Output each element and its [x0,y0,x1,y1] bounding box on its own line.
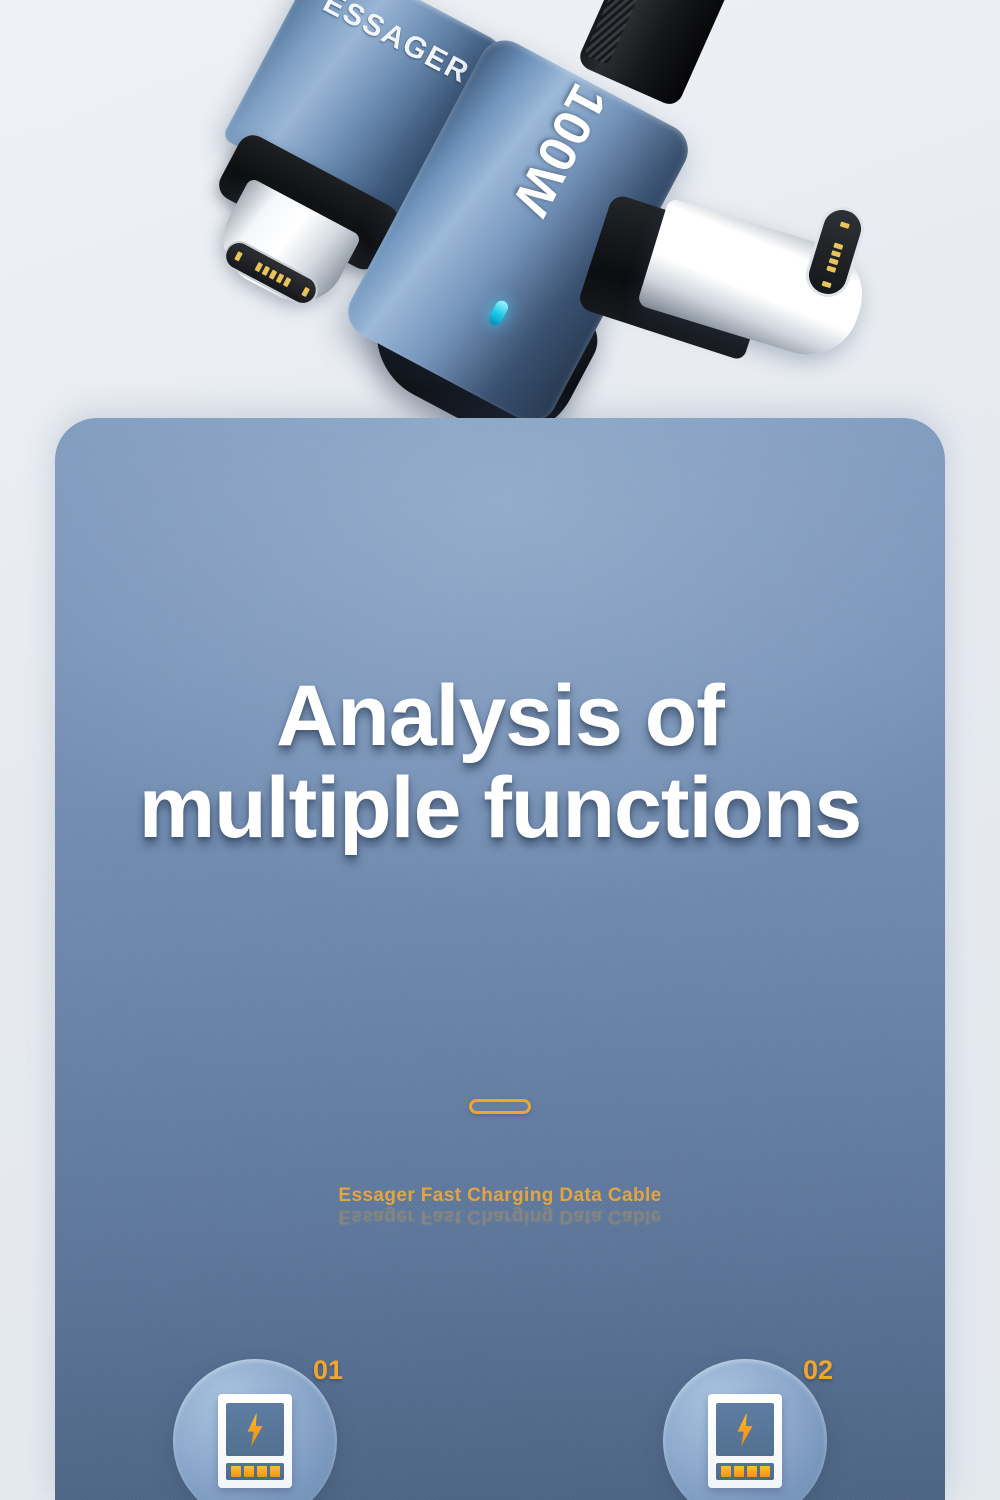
subcaption: Essager Fast Charging Data Cable [55,1185,945,1207]
feature-item: 01 Full electric travel Su [119,1359,391,1500]
battery-segment [231,1466,241,1477]
feature-list: 01 Full electric travel Su [55,1359,945,1500]
page-title: Analysis of multiple functions [55,670,945,854]
charger-indicator-bar [226,1463,284,1480]
info-card: Analysis of multiple functions Essager F… [55,418,945,1500]
charger-screen [226,1403,284,1456]
battery-segment [270,1466,280,1477]
headline-line-2: multiple functions [55,762,945,854]
feature-icon-circle: 01 [173,1359,337,1500]
battery-segment [721,1466,731,1477]
battery-segment [760,1466,770,1477]
headline-line-1: Analysis of [55,670,945,762]
divider-pill-icon [469,1099,531,1114]
charger-bolt-icon [218,1394,292,1488]
battery-segment [734,1466,744,1477]
feature-icon-circle: 02 [663,1359,827,1500]
lightning-bolt-icon [244,1413,266,1447]
battery-segment [244,1466,254,1477]
feature-item: 02 Flexible wiring More sa [609,1359,881,1500]
charger-bolt-icon [708,1394,782,1488]
lightning-bolt-icon [734,1413,756,1447]
charger-indicator-bar [716,1463,774,1480]
product-marketing-page: ESSAGER 100W [0,0,1000,1500]
subcaption-reflection: Essager Fast Charging Data Cable [55,1205,945,1227]
feature-badge-number: 01 [313,1355,343,1386]
battery-segment [747,1466,757,1477]
feature-badge-number: 02 [803,1355,833,1386]
charger-screen [716,1403,774,1456]
subcaption-block: Essager Fast Charging Data Cable Essager… [55,1185,945,1227]
battery-segment [257,1466,267,1477]
